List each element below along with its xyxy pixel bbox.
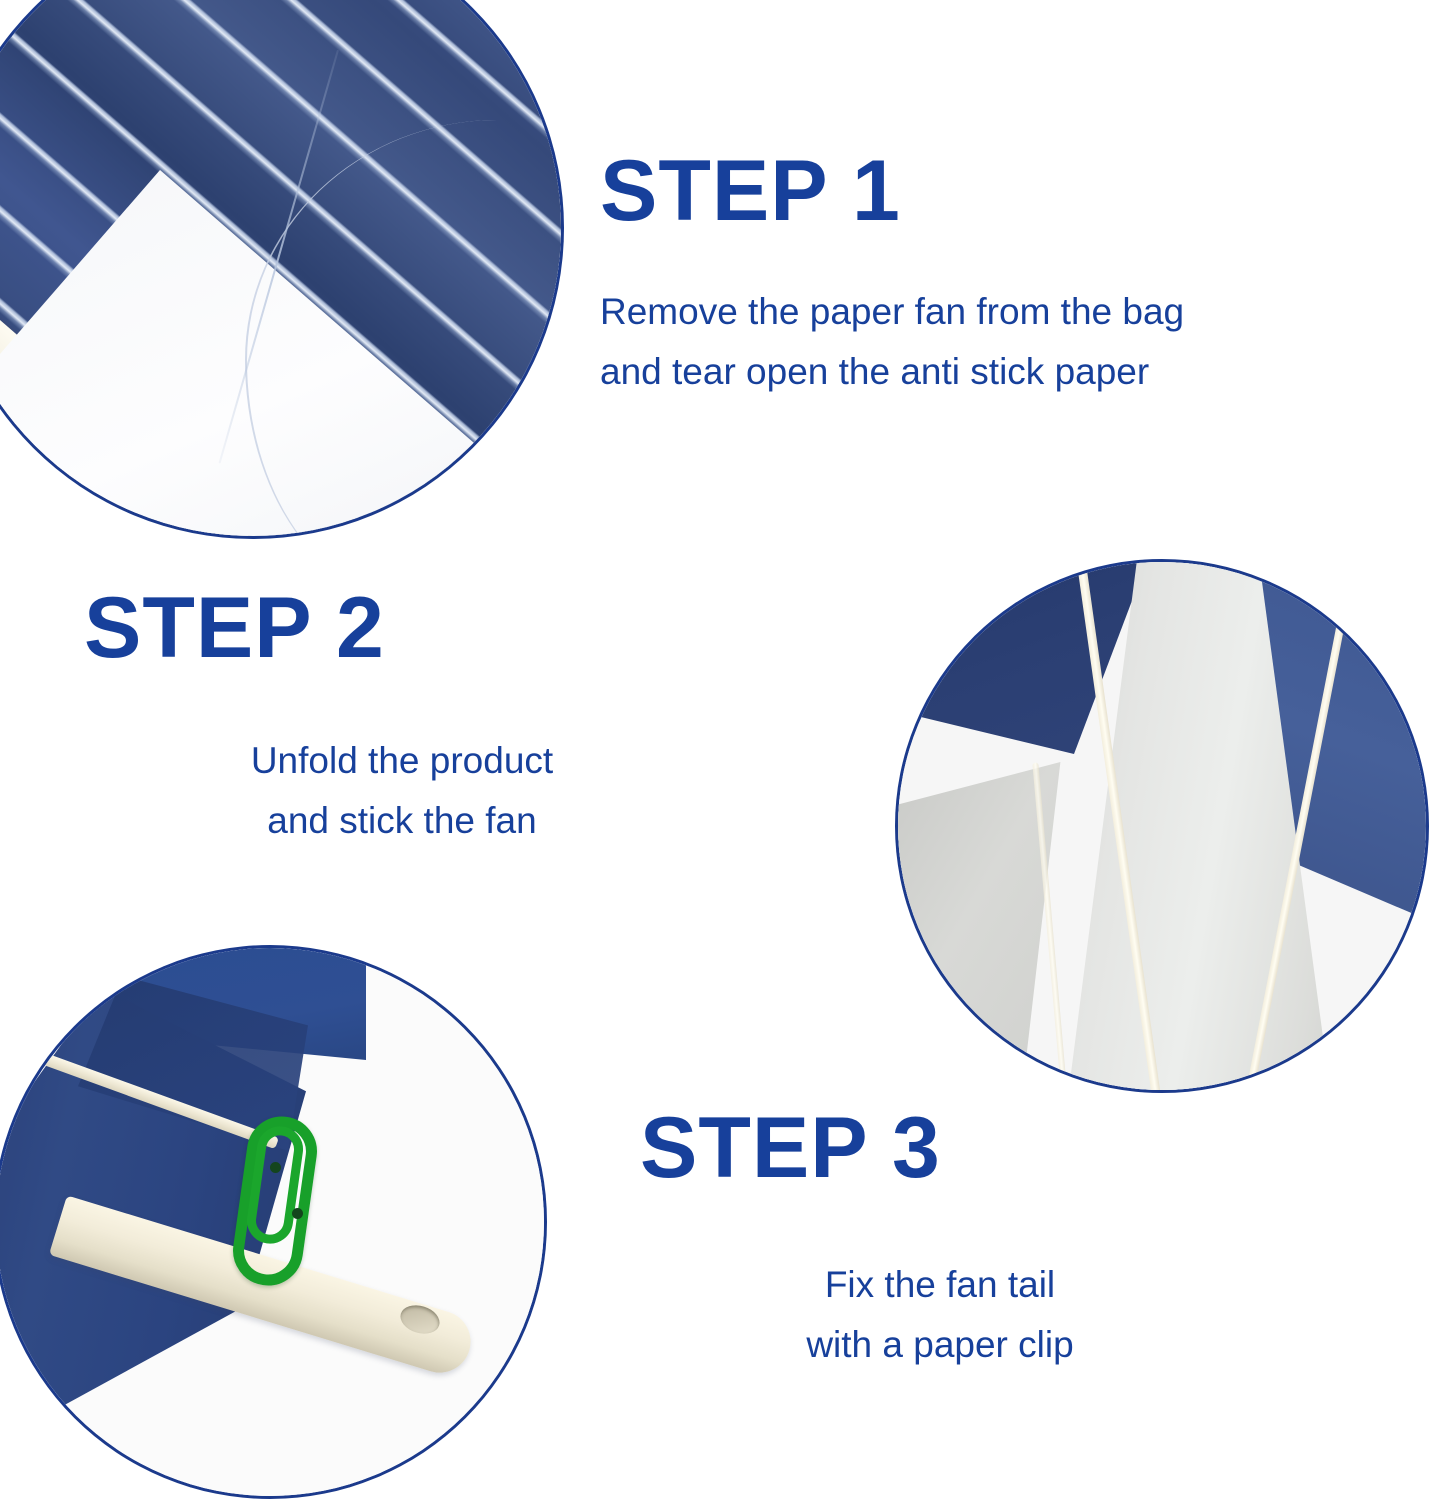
instruction-infographic: STEP 1 Remove the paper fan from the bag… (0, 0, 1434, 1500)
paper-clip-tip (292, 1208, 303, 1219)
step-1-line-1: Remove the paper fan from the bag (600, 282, 1184, 342)
step-3-line-2: with a paper clip (630, 1315, 1250, 1375)
step-1-photo (0, 0, 561, 536)
step-2-block: STEP 2 Unfold the product and stick the … (72, 585, 732, 851)
step-2-title: STEP 2 (84, 585, 732, 671)
step-3-block: STEP 3 Fix the fan tail with a paper cli… (630, 1105, 1250, 1375)
step-1-line-2: and tear open the anti stick paper (600, 342, 1184, 402)
step-2-photo-content (898, 562, 1426, 1090)
step-2-line-1: Unfold the product (72, 731, 732, 791)
step-1-title: STEP 1 (600, 148, 1184, 234)
step-3-title: STEP 3 (640, 1105, 1250, 1191)
step-3-photo-content (0, 948, 544, 1496)
paper-clip-tip (270, 1162, 281, 1173)
step-3-line-1: Fix the fan tail (630, 1255, 1250, 1315)
step-1-block: STEP 1 Remove the paper fan from the bag… (600, 148, 1184, 402)
step-1-photo-content (0, 0, 561, 536)
step-2-line-2: and stick the fan (72, 791, 732, 851)
step-3-photo (0, 948, 544, 1496)
step-2-photo (898, 562, 1426, 1090)
